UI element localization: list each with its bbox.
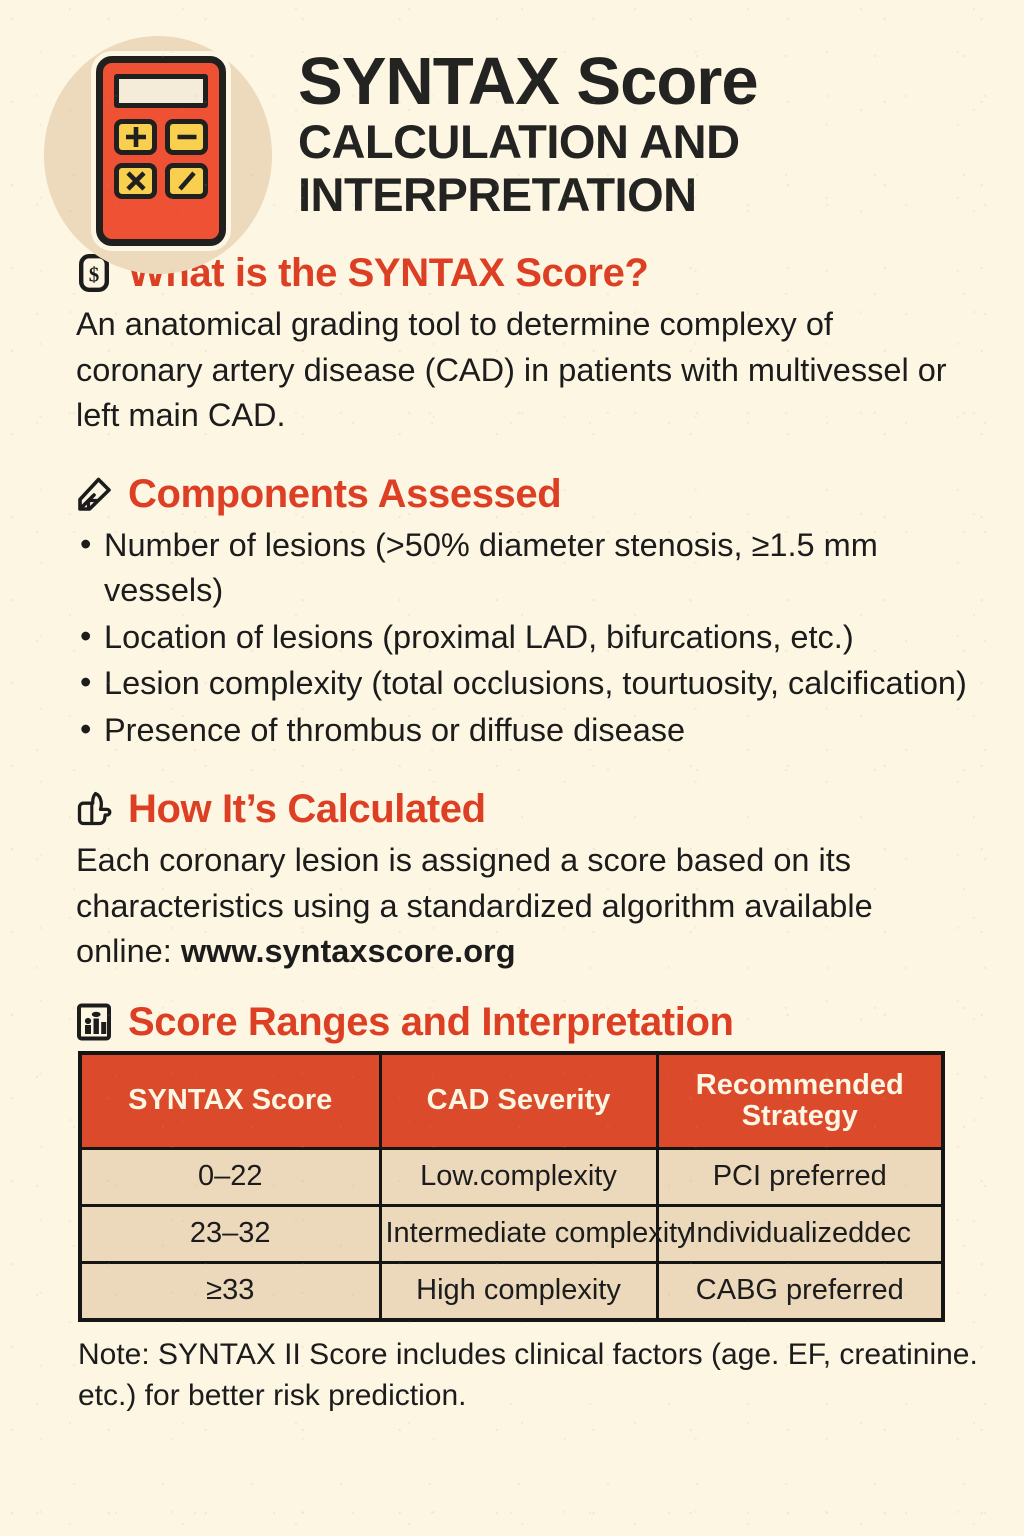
cell-score-range: 23–32 xyxy=(80,1205,380,1262)
page-title: SYNTAX Score CALCULATION AND INTERPRETAT… xyxy=(280,28,758,220)
title-main: SYNTAX Score xyxy=(298,50,758,114)
list-item: Location of lesions (proximal LAD, bifur… xyxy=(76,615,984,661)
section-components-assessed: Components Assessed Number of lesions (>… xyxy=(0,473,1024,754)
score-ranges-table-wrap: SYNTAX Score CAD Severity Recommended St… xyxy=(0,1051,1024,1322)
title-line-3: INTERPRETATION xyxy=(298,171,758,220)
footer-note: Note: SYNTAX II Score includes clinical … xyxy=(0,1322,1024,1417)
multiply-icon xyxy=(114,163,157,199)
column-header-cad-severity: CAD Severity xyxy=(380,1053,657,1149)
calculator-display xyxy=(114,74,208,108)
plus-icon xyxy=(114,119,157,155)
divide-icon xyxy=(165,163,208,199)
section-heading: How It’s Calculated xyxy=(74,788,984,830)
components-bullet-list: Number of lesions (>50% diameter stenosi… xyxy=(76,523,984,754)
table-header-row: SYNTAX Score CAD Severity Recommended St… xyxy=(80,1053,943,1149)
section-title: Components Assessed xyxy=(128,474,561,514)
calculator-keypad xyxy=(114,119,208,199)
minus-icon xyxy=(165,119,208,155)
column-header-syntax-score: SYNTAX Score xyxy=(80,1053,380,1149)
calculator-logo xyxy=(42,28,280,266)
table-row: 23–32 Intermediate complexity Individual… xyxy=(80,1205,943,1262)
section-heading: Components Assessed xyxy=(74,473,984,515)
pen-nib-icon xyxy=(74,473,114,515)
section-title: How It’s Calculated xyxy=(128,789,486,829)
list-item: Number of lesions (>50% diameter stenosi… xyxy=(76,523,984,614)
thumbs-up-icon xyxy=(74,788,114,830)
cell-strategy: Individualizeddec xyxy=(657,1205,943,1262)
list-item: Lesion complexity (total occlusions, tou… xyxy=(76,661,984,707)
page-header: SYNTAX Score CALCULATION AND INTERPRETAT… xyxy=(0,0,1024,252)
what-is-body: An anatomical grading tool to determine … xyxy=(76,302,956,439)
cell-severity: High complexity xyxy=(380,1262,657,1320)
section-score-ranges: Score Ranges and Interpretation xyxy=(0,1001,1024,1043)
table-row: 0–22 Low.complexity PCI preferred xyxy=(80,1148,943,1205)
section-title: Score Ranges and Interpretation xyxy=(128,1002,734,1042)
calculator-icon xyxy=(96,56,226,246)
cell-score-range: ≥33 xyxy=(80,1262,380,1320)
cell-severity: Low.complexity xyxy=(380,1148,657,1205)
bar-chart-icon xyxy=(74,1001,114,1043)
section-how-its-calculated: How It’s Calculated Each coronary lesion… xyxy=(0,788,1024,975)
score-ranges-table: SYNTAX Score CAD Severity Recommended St… xyxy=(78,1051,945,1322)
section-heading: Score Ranges and Interpretation xyxy=(74,1001,984,1043)
cell-score-range: 0–22 xyxy=(80,1148,380,1205)
syntax-score-url[interactable]: www.syntaxscore.org xyxy=(181,933,516,969)
list-item: Presence of thrombus or diffuse disease xyxy=(76,708,984,754)
how-calculated-body: Each coronary lesion is assigned a score… xyxy=(76,838,956,975)
table-row: ≥33 High complexity CABG preferred xyxy=(80,1262,943,1320)
cell-severity: Intermediate complexity xyxy=(380,1205,657,1262)
section-what-is-syntax-score: $ What is the SYNTAX Score? An anatomica… xyxy=(0,252,1024,439)
svg-text:$: $ xyxy=(89,263,100,287)
column-header-recommended-strategy: Recommended Strategy xyxy=(657,1053,943,1149)
title-line-2: CALCULATION AND xyxy=(298,118,758,167)
cell-strategy: CABG preferred xyxy=(657,1262,943,1320)
cell-strategy: PCI preferred xyxy=(657,1148,943,1205)
